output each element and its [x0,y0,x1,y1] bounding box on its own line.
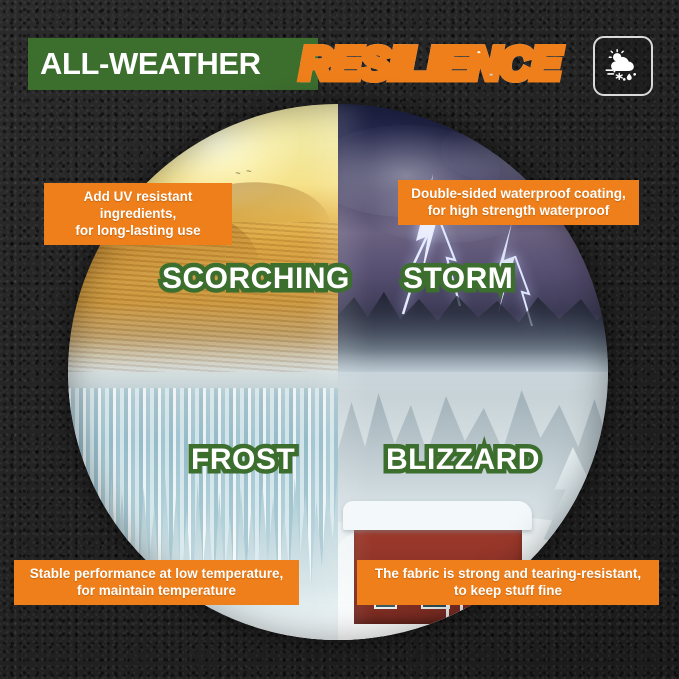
caption-line-1: Stable performance at low temperature, [23,565,290,582]
caption-line-1: The fabric is strong and tearing-resista… [366,565,650,582]
caption-line-2: to keep stuff fine [366,582,650,599]
category-label-scorching: SCORCHING [162,262,350,296]
caption-line-1: Double-sided waterproof coating, [407,185,630,202]
category-label-blizzard: BLIZZARD [386,443,540,477]
header-title-secondary: RESILIENCE [300,38,560,90]
category-label-storm: STORM [403,262,513,296]
category-label-frost: FROST [191,443,295,477]
caption-line-2: for long-lasting use [53,222,223,239]
caption-badge-frost: Stable performance at low temperature, f… [14,560,299,605]
bird-icon: ~ [246,166,251,176]
caption-line-1: Add UV resistant ingredients, [53,188,223,222]
caption-line-2: for maintain temperature [23,582,290,599]
caption-badge-scorching: Add UV resistant ingredients, for long-l… [44,183,232,245]
header-green-bar: ALL-WEATHER [28,38,318,90]
caption-badge-blizzard: The fabric is strong and tearing-resista… [357,560,659,605]
caption-badge-storm: Double-sided waterproof coating, for hig… [398,180,639,225]
header-title-primary: ALL-WEATHER [40,46,261,82]
caption-line-2: for high strength waterproof [407,202,630,219]
header-banner: ALL-WEATHER RESILIENCE [28,36,653,92]
infographic-poster: ALL-WEATHER RESILIENCE [0,0,679,679]
quadrant-storm [338,104,608,372]
bird-icon: ~ [235,168,240,178]
weather-sun-cloud-rain-snow-wind-icon [603,46,643,86]
weather-icon-box [593,36,653,96]
cabin-snow-roof [343,501,532,530]
